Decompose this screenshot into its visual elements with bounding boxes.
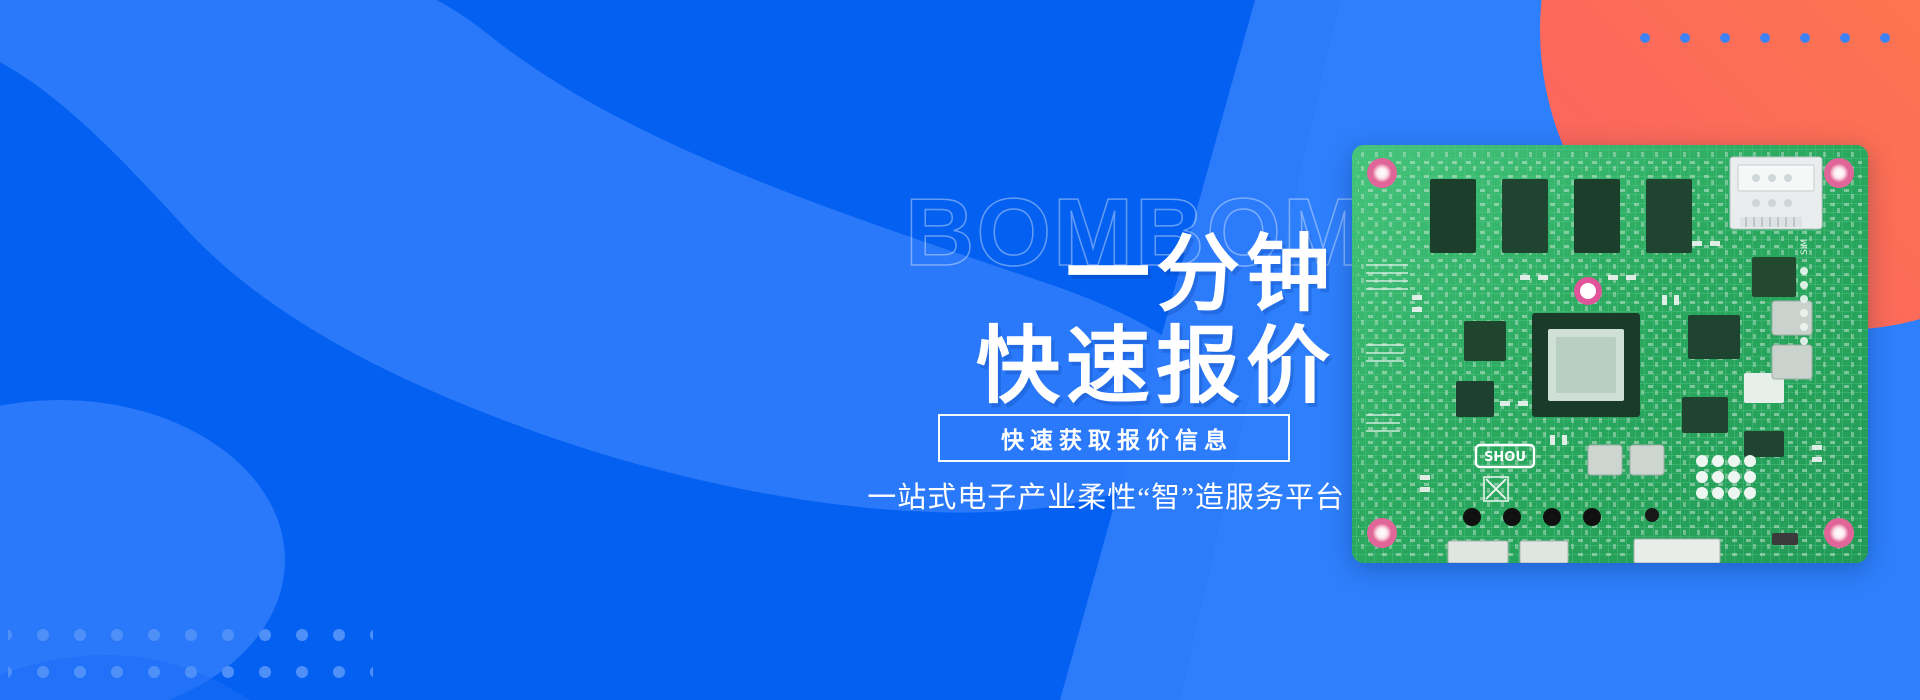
pcb-main-processor [1532, 313, 1640, 417]
promo-banner: BOMBOM 一分钟 快速报价 快速获取报价信息 一站式电子产业柔性“智”造服务… [0, 0, 1920, 700]
pcb-illustration: SIM [1352, 145, 1868, 563]
headline-line-1: 一分钟 [0, 228, 1336, 320]
subtitle-text: 快速获取报价信息 [995, 421, 1233, 455]
subtitle-box: 快速获取报价信息 [938, 414, 1290, 462]
dot-grid-bottom-left-lower [8, 655, 373, 697]
pcb-connector-label: SIM [1800, 239, 1810, 255]
tagline-text: 一站式电子产业柔性“智”造服务平台 [0, 474, 1345, 516]
headline: 一分钟 快速报价 [0, 228, 1336, 412]
pcb-silkscreen-label: SHOU [1484, 450, 1526, 465]
dot-grid-top-right [1610, 26, 1915, 66]
pcb-product-image: SIM [1352, 145, 1868, 563]
dot-grid-bottom-left-upper [8, 618, 373, 660]
headline-line-2: 快速报价 [0, 320, 1336, 412]
